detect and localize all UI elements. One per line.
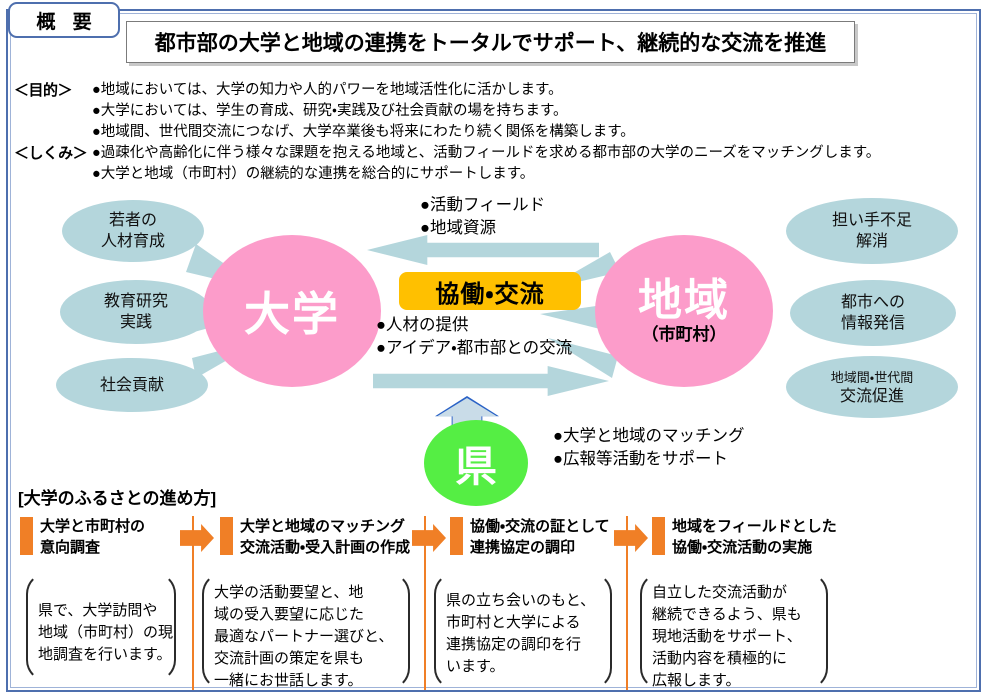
bubble-line1: 担い手不足	[832, 210, 912, 231]
step-arrow-icon-2	[412, 524, 446, 552]
step-arrow-icon-3	[614, 524, 648, 552]
purpose-item: ●地域間、世代間交流につなげ、大学卒業後も将来にわたり続く関係を構築します。	[92, 122, 635, 143]
step-label-line: 大学と市町村の	[40, 516, 145, 537]
step-label-line: 協働・交流の証として	[470, 516, 610, 537]
detail-line: 活動内容を積極的に	[652, 648, 816, 670]
step-label-line: 連携協定の調印	[470, 537, 610, 558]
detail-line: 広報します。	[652, 670, 816, 692]
step-label-line: 協働・交流活動の実施	[672, 537, 837, 558]
column-separator	[424, 516, 426, 690]
step-label-2: 大学と地域のマッチング 交流活動・受入計画の作成	[240, 516, 410, 558]
detail-line: 継続できるよう、県も	[652, 604, 816, 626]
circle-region: 地域 （市町村）	[595, 235, 773, 387]
flow-note-line: ●アイデア・都市部との交流	[376, 337, 572, 360]
detail-box-1: 県で、大学訪問や 地域（市町村）の現 地調査を行います。	[26, 572, 176, 682]
detail-box-2: 大学の活動要望と、地 域の受入要望に応じた 最適なパートナー選びと、 交流計画の…	[202, 572, 410, 690]
prefecture-note-line: ●広報等活動をサポート	[553, 448, 744, 471]
flow-note-line: ●地域資源	[420, 217, 545, 240]
mechanism-label: ＜しくみ＞	[14, 143, 92, 164]
headline-banner: 都市部の大学と地域の連携をトータルでサポート、継続的な交流を推進	[126, 21, 855, 63]
circle-university-label: 大学	[244, 278, 340, 344]
step-marker-icon	[450, 517, 463, 555]
bubble-right-1: 担い手不足 解消	[786, 198, 958, 264]
info-row: ＜目的＞ ●地域においては、大学の知力や人的パワーを地域活性化に活かします。	[14, 80, 964, 101]
circle-university: 大学	[203, 235, 381, 387]
detail-line: 域の受入要望に応じた	[214, 604, 398, 626]
step-header-1: 大学と市町村の 意向調査	[20, 516, 145, 558]
detail-line: 連携協定の調印を行	[446, 634, 600, 656]
mechanism-item: ●過疎化や高齢化に伴う様々な課題を抱える地域と、活動フィールドを求める都市部の大…	[92, 143, 880, 164]
bubble-left-2: 教育研究 実践	[60, 280, 212, 344]
process-steps: 大学と市町村の 意向調査 大学と地域のマッチング 交流活動・受入計画の作成 協働…	[16, 516, 968, 566]
bubble-line1: 社会貢献	[100, 375, 164, 396]
column-separator	[626, 516, 628, 690]
flow-note-to-region: ●人材の提供 ●アイデア・都市部との交流	[376, 314, 572, 360]
detail-line: 地調査を行います。	[38, 644, 164, 666]
circle-prefecture-label: 県	[455, 433, 497, 494]
info-row: ●地域間、世代間交流につなげ、大学卒業後も将来にわたり続く関係を構築します。	[14, 122, 964, 143]
collaboration-badge: 協働・交流	[399, 272, 581, 310]
flow-note-line: ●活動フィールド	[420, 194, 545, 217]
bubble-line2: 情報発信	[841, 313, 905, 334]
bubble-line2: 交流促進	[840, 387, 904, 406]
section-tab-label: 概 要	[30, 7, 97, 34]
bubble-right-3: 地域間・世代間 交流促進	[786, 356, 958, 418]
detail-line: 市町村と大学による	[446, 612, 600, 634]
step-label-4: 地域をフィールドとした 協働・交流活動の実施	[672, 516, 837, 558]
column-separator	[192, 516, 194, 690]
flow-note-line: ●人材の提供	[376, 314, 572, 337]
bubble-line1: 地域間・世代間	[831, 368, 913, 387]
purpose-label: ＜目的＞	[14, 80, 92, 101]
flow-note-to-university: ●活動フィールド ●地域資源	[420, 194, 545, 240]
step-marker-icon	[220, 517, 233, 555]
step-arrow-icon-1	[180, 524, 214, 552]
detail-line: 自立した交流活動が	[652, 582, 816, 604]
bubble-line1: 若者の	[109, 210, 157, 231]
slide-page: 概 要 都市部の大学と地域の連携をトータルでサポート、継続的な交流を推進 ＜目的…	[0, 0, 989, 699]
bubble-line1: 都市への	[841, 292, 905, 313]
bubble-left-1: 若者の 人材育成	[62, 200, 204, 262]
detail-line: 交流計画の策定を県も	[214, 648, 398, 670]
info-row: ●大学においては、学生の育成、研究・実践及び社会貢献の場を持ちます。	[14, 101, 964, 122]
prefecture-note-line: ●大学と地域のマッチング	[553, 425, 744, 448]
step-label-line: 大学と地域のマッチング	[240, 516, 410, 537]
info-block: ＜目的＞ ●地域においては、大学の知力や人的パワーを地域活性化に活かします。 ●…	[14, 80, 964, 185]
step-label-3: 協働・交流の証として 連携協定の調印	[470, 516, 610, 558]
detail-box-3: 県の立ち会いのもと、 市町村と大学による 連携協定の調印を行 います。	[434, 572, 612, 690]
detail-line: います。	[446, 656, 600, 678]
bubble-line1: 教育研究	[104, 291, 168, 312]
step-header-2: 大学と地域のマッチング 交流活動・受入計画の作成	[220, 516, 410, 558]
bubble-left-3: 社会貢献	[56, 358, 208, 412]
bubble-line2: 実践	[120, 312, 152, 333]
circle-region-label: 地域	[638, 278, 730, 324]
step-label-line: 交流活動・受入計画の作成	[240, 537, 410, 558]
circle-prefecture: 県	[424, 420, 528, 506]
concept-diagram: 若者の 人材育成 教育研究 実践 社会貢献 担い手不足 解消 都市への 情報発信…	[0, 180, 989, 490]
step-marker-icon	[652, 517, 665, 555]
detail-line: 現地活動をサポート、	[652, 626, 816, 648]
step-header-4: 地域をフィールドとした 協働・交流活動の実施	[652, 516, 837, 558]
bubble-line2: 人材育成	[101, 231, 165, 252]
step-header-3: 協働・交流の証として 連携協定の調印	[450, 516, 610, 558]
prefecture-notes: ●大学と地域のマッチング ●広報等活動をサポート	[553, 425, 744, 471]
collaboration-badge-label: 協働・交流	[435, 274, 544, 309]
headline-text: 都市部の大学と地域の連携をトータルでサポート、継続的な交流を推進	[155, 27, 827, 57]
bubble-line2: 解消	[856, 231, 888, 252]
detail-line: 最適なパートナー選びと、	[214, 626, 398, 648]
detail-line: 県の立ち会いのもと、	[446, 590, 600, 612]
step-label-line: 意向調査	[40, 537, 145, 558]
step-marker-icon	[20, 517, 33, 555]
detail-line: 一緒にお世話します。	[214, 670, 398, 692]
step-label-1: 大学と市町村の 意向調査	[40, 516, 145, 558]
detail-box-4: 自立した交流活動が 継続できるよう、県も 現地活動をサポート、 活動内容を積極的…	[640, 572, 828, 690]
info-row: ＜しくみ＞ ●過疎化や高齢化に伴う様々な課題を抱える地域と、活動フィールドを求め…	[14, 143, 964, 164]
step-label-line: 地域をフィールドとした	[672, 516, 837, 537]
circle-region-sublabel: （市町村）	[642, 325, 727, 345]
detail-line: 県で、大学訪問や	[38, 600, 164, 622]
bubble-right-2: 都市への 情報発信	[790, 280, 956, 346]
detail-line: 地域（市町村）の現	[38, 622, 164, 644]
detail-line: 大学の活動要望と、地	[214, 582, 398, 604]
purpose-item: ●地域においては、大学の知力や人的パワーを地域活性化に活かします。	[92, 80, 563, 101]
purpose-item: ●大学においては、学生の育成、研究・実践及び社会貢献の場を持ちます。	[92, 101, 568, 122]
section-tab-overview[interactable]: 概 要	[8, 2, 120, 38]
